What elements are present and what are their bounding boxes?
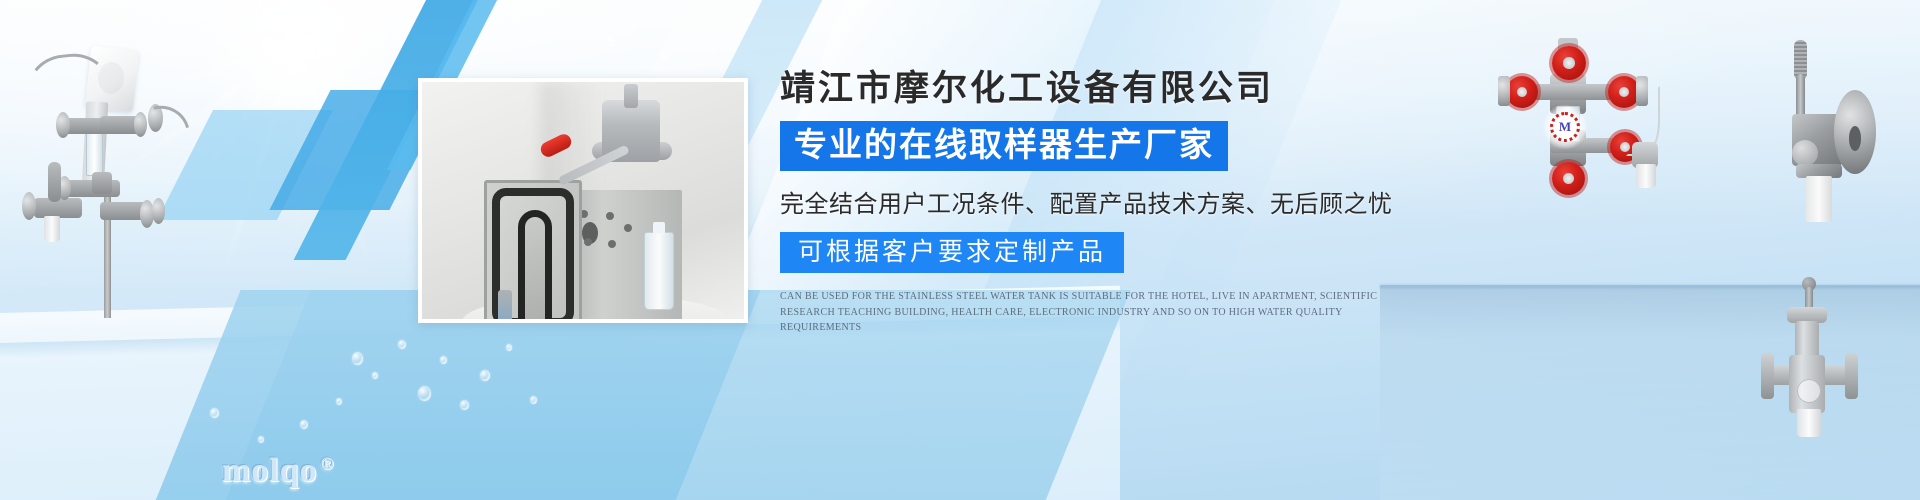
valve-lever-shaft[interactable] (1796, 74, 1805, 156)
product-lever-handle-valve (1790, 22, 1920, 202)
rig-flange (134, 112, 147, 137)
door-latch (498, 290, 512, 323)
sun-core (190, 0, 410, 155)
valve-handwheel-top[interactable] (1552, 46, 1586, 80)
sample-bottle-neck (653, 222, 665, 234)
watermark-text: molqo (222, 452, 318, 489)
product-online-sampler-rig (0, 20, 180, 280)
brand-watermark: molqo® (222, 452, 334, 490)
top-valve-stem (624, 84, 638, 108)
valve-handwheel-right[interactable] (1608, 76, 1640, 108)
valve-outlet-sleeve (1806, 176, 1832, 222)
valve-knurled-lever[interactable] (1794, 40, 1807, 80)
rig-flange (152, 198, 165, 224)
valve-indicator-dial (1792, 140, 1818, 166)
rig-valve-hub (100, 202, 148, 220)
manifold-horizontal-pipe-lower (1550, 138, 1636, 153)
valve-handwheel-left[interactable] (1506, 76, 1538, 108)
rig-valve-hub (34, 198, 82, 218)
headline-badge: 专业的在线取样器生产厂家 (780, 121, 1228, 172)
valve-handwheel-bottom[interactable] (1552, 162, 1585, 195)
seal-mark: M (1550, 112, 1580, 142)
rig-flange (140, 200, 154, 228)
marketing-banner: M 靖江市摩尔化工设备有限公司 专业的在线取样器生产厂家 完全结合用户工况 (0, 0, 1920, 500)
water-droplet (660, 52, 667, 60)
registered-mark-icon: ® (321, 454, 335, 473)
product-photo-sampling-cabinet (418, 78, 748, 323)
rig-relief-valve (48, 162, 61, 202)
certification-seal: M (1542, 104, 1588, 150)
right-horizon-line (1380, 285, 1920, 288)
rig-flange (148, 104, 163, 132)
rig-tube (22, 50, 123, 185)
valve-outlet-flange (1834, 90, 1876, 174)
manifold-sight-glass (1556, 106, 1580, 142)
rig-support-pole (104, 190, 111, 318)
door-window (518, 210, 552, 323)
product-cross-valve-manifold: M (1480, 20, 1730, 190)
water-droplet (606, 36, 615, 46)
valve-main-body (1792, 114, 1842, 166)
rig-sight-glass (86, 128, 103, 176)
manifold-vertical-pipe (1558, 38, 1578, 188)
rig-tube (93, 95, 200, 223)
right-horizon-plane (1380, 285, 1920, 500)
manifold-lower-body (1550, 130, 1586, 166)
rig-enclosure (85, 46, 139, 113)
drain-fitting (1632, 142, 1658, 168)
valve-base-mount (1796, 164, 1842, 178)
rig-valve-hub (64, 180, 120, 197)
cabinet-fasteners (580, 210, 638, 270)
rig-valve-hub (92, 172, 112, 194)
rig-valve-hub (62, 118, 108, 134)
rig-valve-hub (100, 116, 142, 134)
rig-flange (58, 176, 71, 200)
english-caption: CAN BE USED FOR THE STAINLESS STEEL WATE… (780, 289, 1390, 336)
subheadline: 完全结合用户工况条件、配置产品技术方案、无后顾之忧 (780, 184, 1420, 219)
secondary-badge: 可根据客户要求定制产品 (780, 232, 1124, 273)
manifold-flange (1498, 76, 1510, 106)
manifold-horizontal-pipe (1506, 84, 1638, 100)
manifold-flange (1636, 76, 1648, 106)
sample-bottle (644, 232, 674, 310)
headline-text-block: 靖江市摩尔化工设备有限公司 专业的在线取样器生产厂家 完全结合用户工况条件、配置… (780, 70, 1420, 336)
rig-flange (22, 192, 36, 220)
company-name: 靖江市摩尔化工设备有限公司 (780, 70, 1420, 109)
rig-mount-plate (82, 101, 109, 190)
rig-sample-bottle (44, 216, 60, 242)
manifold-upper-body (1550, 74, 1586, 114)
rig-flange (56, 112, 70, 138)
drain-tubing (1626, 86, 1660, 156)
diagonal-stripe-pale (157, 110, 333, 220)
water-droplet (628, 22, 634, 29)
valve-handwheel-lower-right[interactable] (1610, 132, 1640, 162)
collection-vessel (1636, 164, 1656, 188)
